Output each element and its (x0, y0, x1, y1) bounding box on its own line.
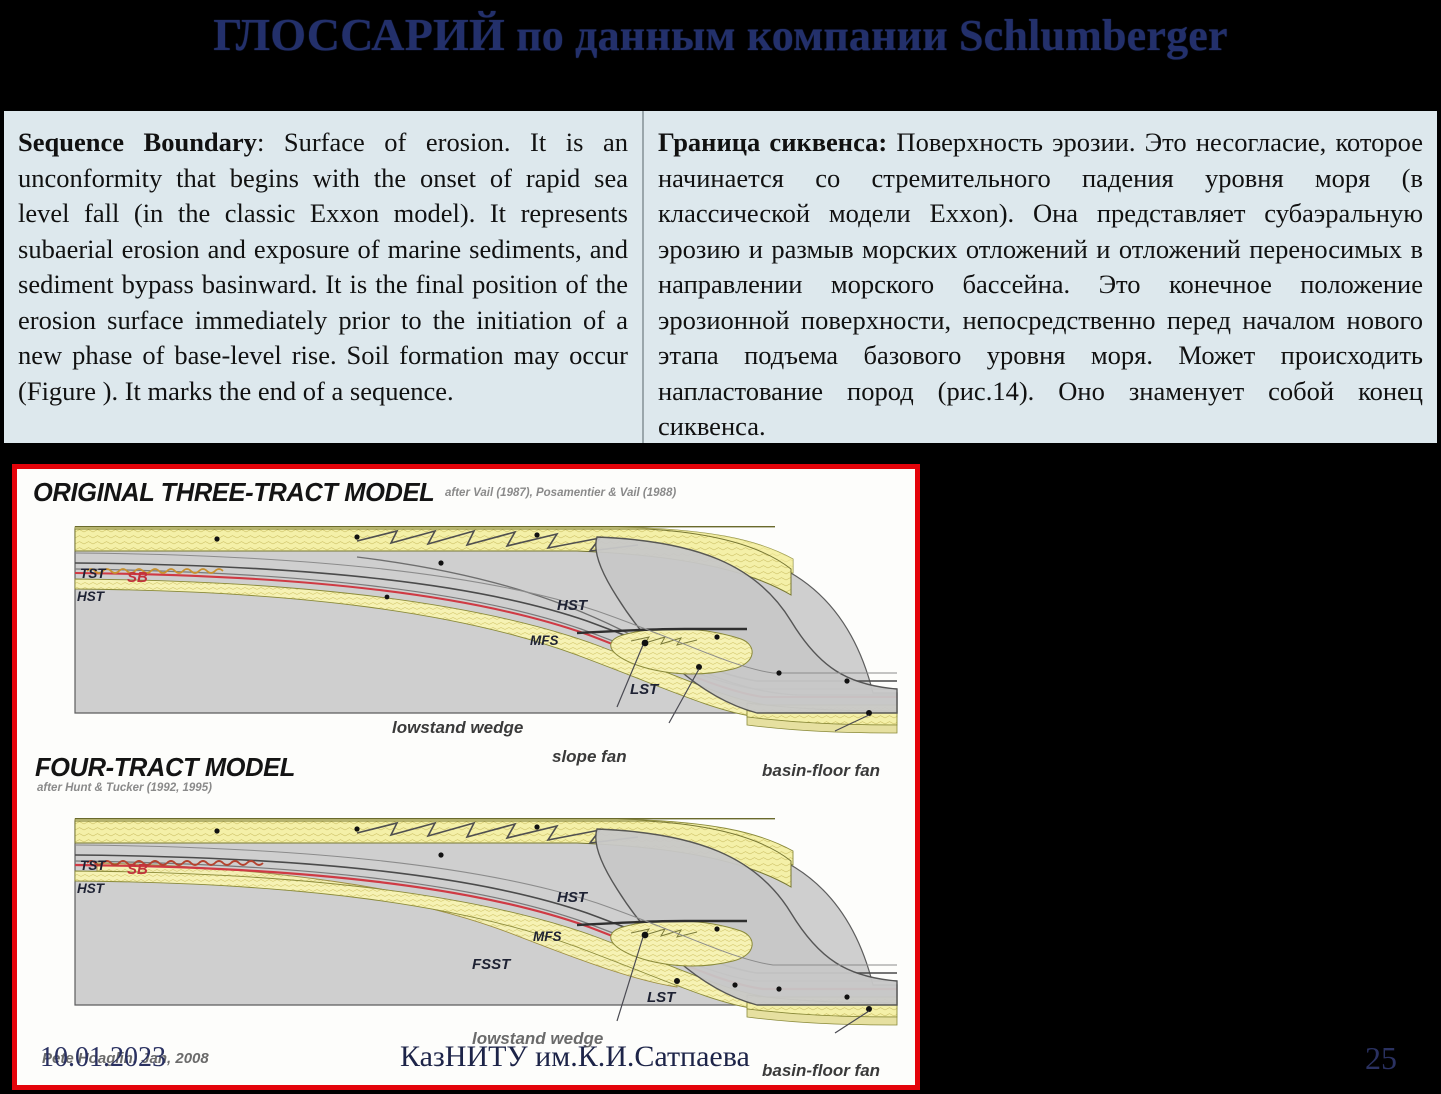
definition-body-russian: Поверхность эрозии. Это несогласие, кото… (658, 127, 1423, 441)
four-tract-model-title: FOUR-TRACT MODEL (35, 754, 295, 783)
annotation-lowstand-wedge-top: lowstand wedge (392, 718, 523, 738)
definition-body-english: : Surface of erosion. It is an unconform… (18, 127, 628, 406)
definition-term-russian: Граница сиквенса: (658, 127, 887, 157)
definition-panel-russian: Граница сиквенса: Поверхность эрозии. Эт… (644, 111, 1437, 443)
definition-term-english: Sequence Boundary (18, 127, 257, 157)
label-top-hst-left: HST (77, 589, 104, 604)
footer-organization: КазНИТУ им.К.И.Сатпаева (400, 1040, 750, 1074)
page-title-caps: ГЛОССАРИЙ (213, 9, 505, 60)
label-bottom-hst-mid: HST (557, 889, 587, 906)
label-bottom-lst: LST (647, 989, 675, 1006)
label-bottom-fsst: FSST (472, 956, 510, 973)
label-bottom-mfs: MFS (533, 929, 562, 944)
annotation-basin-floor-fan-bottom: basin-floor fan (762, 1061, 880, 1081)
figure-canvas: ORIGINAL THREE-TRACT MODEL after Vail (1… (17, 469, 915, 1085)
label-top-mfs: MFS (530, 633, 559, 648)
annotation-basin-floor-fan-top: basin-floor fan (762, 761, 880, 781)
three-tract-model-credit: after Vail (1987), Posamentier & Vail (1… (445, 487, 676, 499)
label-top-lst: LST (630, 681, 658, 698)
page-title-rest: по данным компании Schlumberger (505, 11, 1228, 60)
label-bottom-hst-left: HST (77, 881, 104, 896)
label-bottom-tst: TST (80, 858, 106, 873)
label-top-sb: SB (127, 569, 148, 586)
three-tract-model-title: ORIGINAL THREE-TRACT MODEL (33, 479, 434, 508)
footer-date: 10.01.2023 (40, 1042, 166, 1074)
annotation-slope-fan-top: slope fan (552, 747, 627, 767)
label-bottom-sb: SB (127, 861, 148, 878)
definition-panel-english: Sequence Boundary: Surface of erosion. I… (4, 111, 644, 443)
label-top-hst-mid: HST (557, 597, 587, 614)
four-tract-cross-section (57, 809, 912, 1047)
page-number: 25 (1365, 1040, 1397, 1077)
definition-panels: Sequence Boundary: Surface of erosion. I… (4, 111, 1437, 443)
stratigraphy-figure: ORIGINAL THREE-TRACT MODEL after Vail (1… (12, 464, 920, 1090)
label-top-tst: TST (80, 566, 106, 581)
page-title: ГЛОССАРИЙ по данным компании Schlumberge… (0, 8, 1441, 61)
four-tract-model-credit: after Hunt & Tucker (1992, 1995) (37, 782, 212, 794)
